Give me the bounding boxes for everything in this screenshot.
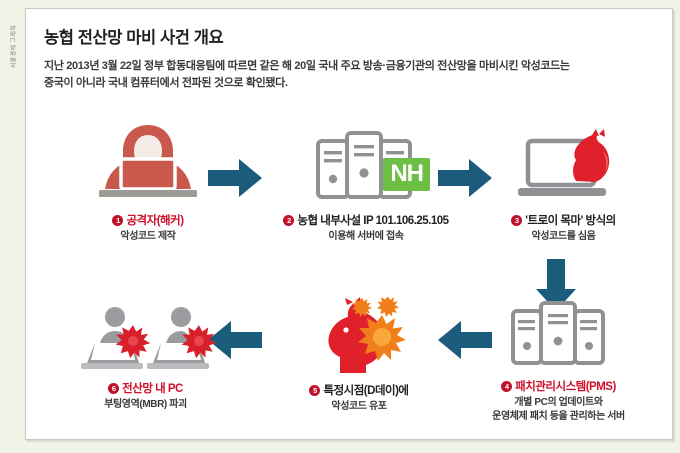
step-4: 4패치관리시스템(PMS) 개별 PC의 업데이트와 운영체제 패치 등을 관리… (451, 299, 666, 425)
step-1-desc: 악성코드 제작 (68, 230, 228, 245)
step-3: 3'트로이 목마' 방식의 악성코드를 심음 (481, 129, 646, 244)
subtitle-line-1: 지난 2013년 3월 22일 정부 합동대응팀에 따르면 같은 해 20일 국… (44, 60, 570, 72)
step-5-title: 5특정시점(D데이)에 (274, 384, 444, 400)
step-1-title-text: 공격자(해커) (126, 215, 183, 227)
step-6-desc: 부팅영역(MBR) 파괴 (58, 398, 233, 413)
step-2-title-text: 농협 내부사설 IP 101.106.25.105 (297, 215, 448, 227)
infographic-page: 서울경제 그래픽 농협 전산망 마비 사건 개요 지난 2013년 3월 22일… (0, 0, 680, 453)
step-1-number: 1 (112, 215, 123, 226)
step-1-caption: 1공격자(해커) 악성코드 제작 (68, 214, 228, 244)
step-4-caption: 4패치관리시스템(PMS) 개별 PC의 업데이트와 운영체제 패치 등을 관리… (451, 380, 666, 425)
step-5-title-text: 특정시점(D데이)에 (323, 385, 408, 397)
step-2-title: 2농협 내부사설 IP 101.106.25.105 (271, 214, 461, 230)
header: 농협 전산망 마비 사건 개요 지난 2013년 3월 22일 정부 합동대응팀… (44, 29, 654, 92)
step-2: NH 2농협 내부사설 IP 101.106.25.105 이용해 서버에 접속 (271, 129, 461, 244)
server-rack-icon (505, 299, 613, 373)
infected-pcs-icon (71, 305, 221, 375)
content-panel: 농협 전산망 마비 사건 개요 지난 2013년 3월 22일 정부 합동대응팀… (25, 8, 673, 440)
step-4-desc-line-2: 운영체제 패치 등을 관리하는 서버 (451, 410, 666, 425)
side-rail-credit: 서울경제 그래픽 (9, 11, 18, 83)
step-4-title: 4패치관리시스템(PMS) (451, 380, 666, 396)
step-3-caption: 3'트로이 목마' 방식의 악성코드를 심음 (481, 214, 646, 244)
arrow-step1-to-step2 (206, 157, 264, 199)
nh-logo-badge: NH (383, 158, 430, 191)
step-5-caption: 5특정시점(D데이)에 악성코드 유포 (274, 384, 444, 414)
step-4-title-text: 패치관리시스템(PMS) (515, 381, 616, 393)
laptop-trojan-horse-icon (504, 129, 624, 207)
step-3-number: 3 (511, 215, 522, 226)
trojan-horse-burst-icon (300, 297, 418, 377)
step-6-caption: 6전산망 내 PC 부팅영역(MBR) 파괴 (58, 382, 233, 412)
hacker-icon (83, 119, 213, 207)
step-3-title-text: '트로이 목마' 방식의 (525, 215, 616, 227)
arrow-step4-to-step5 (436, 319, 494, 361)
step-5-number: 5 (309, 385, 320, 396)
page-title: 농협 전산망 마비 사건 개요 (44, 29, 654, 49)
subtitle-line-2: 중국이 아니라 국내 컴퓨터에서 전파된 것으로 확인됐다. (44, 77, 288, 89)
step-6: 6전산망 내 PC 부팅영역(MBR) 파괴 (58, 305, 233, 412)
step-2-desc: 이용해 서버에 접속 (271, 230, 461, 245)
step-5-desc: 악성코드 유포 (274, 400, 444, 415)
server-rack-icon: NH (306, 129, 426, 207)
step-4-number: 4 (501, 381, 512, 392)
step-3-title: 3'트로이 목마' 방식의 (481, 214, 646, 230)
step-1-title: 1공격자(해커) (68, 214, 228, 230)
step-5: 5특정시점(D데이)에 악성코드 유포 (274, 297, 444, 414)
step-2-number: 2 (283, 215, 294, 226)
step-2-caption: 2농협 내부사설 IP 101.106.25.105 이용해 서버에 접속 (271, 214, 461, 244)
step-1: 1공격자(해커) 악성코드 제작 (68, 119, 228, 244)
page-subtitle: 지난 2013년 3월 22일 정부 합동대응팀에 따르면 같은 해 20일 국… (44, 58, 654, 92)
step-6-title: 6전산망 내 PC (58, 382, 233, 398)
step-4-desc-line-1: 개별 PC의 업데이트와 (451, 396, 666, 411)
step-6-title-text: 전산망 내 PC (122, 383, 183, 395)
side-rail: 서울경제 그래픽 (0, 0, 22, 453)
step-3-desc: 악성코드를 심음 (481, 230, 646, 245)
step-6-number: 6 (108, 383, 119, 394)
